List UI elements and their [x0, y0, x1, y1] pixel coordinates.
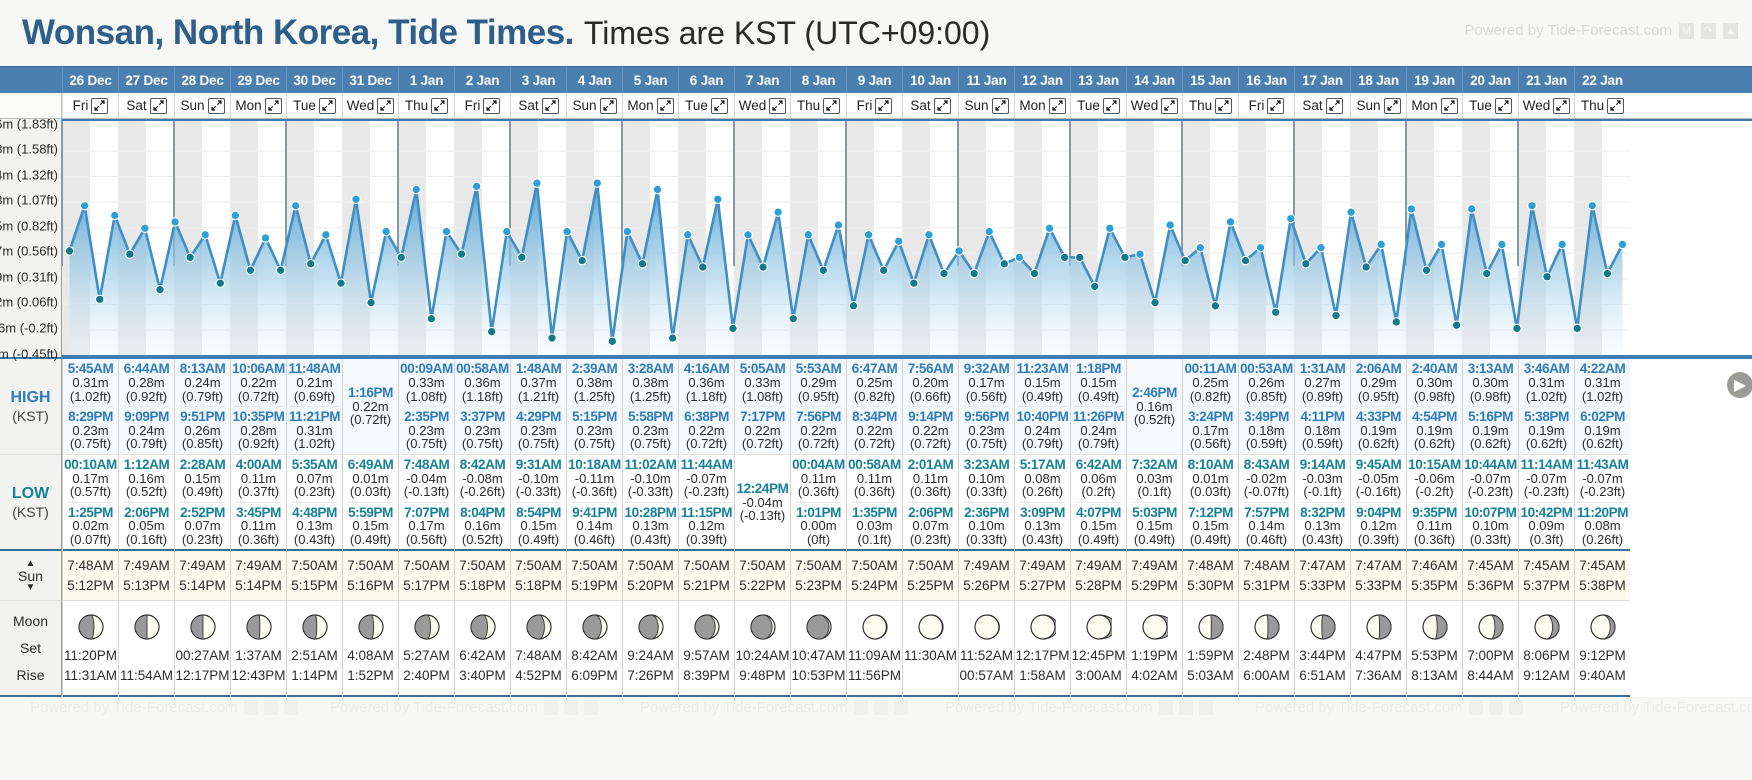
weekday-header-sun[interactable]: Sun — [174, 93, 230, 118]
low-tide-cell: 11:14AM -0.07m (-0.23ft)10:42PM 0.09m (0… — [1519, 455, 1574, 551]
moon-cell: 1:19PM 4:02AM — [1127, 601, 1182, 697]
expand-icon[interactable] — [1049, 98, 1066, 114]
low-tide-meters: 0.12m — [681, 519, 732, 532]
sunrise-time: 7:49AM — [179, 558, 226, 573]
low-tide-feet: (0.52ft) — [124, 485, 170, 498]
moon-phase-icon — [414, 614, 440, 643]
weekday-header-wed[interactable]: Wed — [1518, 93, 1574, 118]
weekday-header-tue[interactable]: Tue — [1070, 93, 1126, 118]
day-column: 6:47AM 0.25m (0.82ft)8:34PM 0.22m (0.72f… — [846, 359, 902, 697]
sunset-time: 5:36PM — [1467, 578, 1514, 593]
date-header-1-jan[interactable]: 1 Jan — [398, 67, 454, 93]
moon-phase-icon — [246, 614, 272, 643]
sunset-time: 5:37PM — [1523, 578, 1570, 593]
moonset-time: 11:09AM — [848, 648, 901, 663]
date-header-27-dec[interactable]: 27 Dec — [118, 67, 174, 93]
date-header-18-jan[interactable]: 18 Jan — [1350, 67, 1406, 93]
date-header-17-jan[interactable]: 17 Jan — [1294, 67, 1350, 93]
low-tide-time: 10:28PM — [625, 506, 677, 520]
weekday-label: Fri — [465, 98, 481, 113]
date-header-6-jan[interactable]: 6 Jan — [678, 67, 734, 93]
high-tide-feet: (0.62ft) — [1524, 437, 1569, 450]
sunset-time: 5:12PM — [67, 578, 114, 593]
moonrise-time: 9:48PM — [739, 668, 786, 683]
weekday-label: Sun — [964, 98, 988, 113]
low-tide-meters: -0.07m — [681, 472, 733, 485]
sunrise-time: 7:48AM — [1243, 558, 1290, 573]
expand-icon[interactable] — [1495, 98, 1512, 114]
low-tide-time: 00:04AM — [792, 458, 845, 472]
weekday-header-sun[interactable]: Sun — [1350, 93, 1406, 118]
logo-icon-2 — [1199, 700, 1213, 715]
moon-cell: 9:12PM 9:40AM — [1575, 601, 1630, 697]
high-tide-cell: 00:58AM 0.36m (1.18ft)3:37PM 0.23m (0.75… — [455, 359, 510, 455]
weekday-header-wed[interactable]: Wed — [1126, 93, 1182, 118]
low-tide-meters: 0.14m — [1244, 519, 1289, 532]
low-tide-time: 7:48AM — [404, 458, 450, 472]
expand-icon[interactable] — [769, 98, 786, 114]
high-tide-cell: 3:46AM 0.31m (1.02ft)5:38PM 0.19m (0.62f… — [1519, 359, 1574, 455]
date-header-14-jan[interactable]: 14 Jan — [1126, 67, 1182, 93]
expand-icon[interactable] — [600, 98, 617, 114]
moonset-time: 7:48AM — [515, 648, 562, 663]
sun-cell: 7:47AM 5:33PM — [1295, 551, 1350, 601]
weekday-header-thu[interactable]: Thu — [1182, 93, 1238, 118]
weekday-label: Tue — [1469, 98, 1492, 113]
sunset-time: 5:13PM — [123, 578, 170, 593]
moonset-time: 12:45PM — [1071, 648, 1125, 663]
low-tide-time: 8:54PM — [516, 506, 561, 520]
sunrise-time: 7:46AM — [1411, 558, 1458, 573]
moon-phase-icon — [302, 614, 328, 643]
chart-plot-area — [62, 119, 1752, 357]
weekday-header-fri[interactable]: Fri — [454, 93, 510, 118]
low-tide-meters: 0.02m — [68, 519, 113, 532]
date-header-5-jan[interactable]: 5 Jan — [622, 67, 678, 93]
high-tide-feet: (0.79ft) — [1073, 437, 1124, 450]
y-axis-tick: -0.14m (-0.45ft) — [0, 346, 58, 361]
low-tide-feet: (0.49ft) — [1132, 533, 1177, 546]
sunset-time: 5:14PM — [235, 578, 282, 593]
sunrise-time: 7:48AM — [1187, 558, 1234, 573]
moonset-time: 11:30AM — [904, 648, 957, 663]
high-tide-event: 5:53AM 0.29m (0.95ft) — [796, 361, 842, 404]
sun-cell: 7:50AM 5:22PM — [735, 551, 790, 601]
weekday-header-sat[interactable]: Sat — [1294, 93, 1350, 118]
weekday-header-mon[interactable]: Mon — [230, 93, 286, 118]
day-column: 8:13AM 0.24m (0.79ft)9:51PM 0.26m (0.85f… — [174, 359, 230, 697]
sunrise-time: 7:50AM — [515, 558, 562, 573]
moon-label-text: Moon — [13, 613, 48, 629]
high-tide-cell: 4:22AM 0.31m (1.02ft)6:02PM 0.19m (0.62f… — [1575, 359, 1630, 455]
expand-icon[interactable] — [823, 98, 840, 114]
high-tide-feet: (0.72ft) — [740, 437, 785, 450]
high-tide-cell: 00:09AM 0.33m (1.08ft)2:35PM 0.23m (0.75… — [399, 359, 454, 455]
powered-by-watermark: Powered by Tide-Forecast.com — [1560, 699, 1752, 716]
weekday-header-tue[interactable]: Tue — [678, 93, 734, 118]
high-tide-feet: (0.72ft) — [796, 437, 841, 450]
low-tide-time: 7:57PM — [1244, 506, 1289, 520]
high-tide-feet: (0.75ft) — [460, 437, 505, 450]
sun-cell: 7:50AM 5:17PM — [399, 551, 454, 601]
high-tide-time: 3:24PM — [1188, 410, 1233, 424]
high-tide-meters: 0.29m — [796, 376, 842, 389]
low-tide-event: 1:35PM 0.03m (0.1ft) — [852, 502, 897, 548]
date-header-9-jan[interactable]: 9 Jan — [846, 67, 902, 93]
date-header-29-dec[interactable]: 29 Dec — [230, 67, 286, 93]
day-column: 11:23AM 0.15m (0.49ft)10:40PM 0.24m (0.7… — [1014, 359, 1070, 697]
high-tide-meters: 0.28m — [124, 376, 170, 389]
moonrise-time: 10:53PM — [791, 668, 845, 683]
high-tide-meters: 0.30m — [1412, 376, 1458, 389]
weekday-header-sat[interactable]: Sat — [510, 93, 566, 118]
expand-icon[interactable] — [1441, 98, 1458, 114]
high-tide-event: 11:48AM 0.21m (0.69ft) — [289, 361, 341, 404]
weekday-header-fri[interactable]: Fri — [1238, 93, 1294, 118]
day-column: 11:48AM 0.21m (0.69ft)11:21PM 0.31m (1.0… — [286, 359, 342, 697]
refresh-icon — [874, 700, 888, 715]
high-tide-feet: (0.52ft) — [1132, 413, 1177, 426]
day-column: 2:39AM 0.38m (1.25ft)5:15PM 0.23m (0.75f… — [566, 359, 622, 697]
high-tide-meters: 0.22m — [232, 376, 285, 389]
weekday-label: Wed — [1523, 98, 1551, 113]
moon-cell: 3:44PM 6:51AM — [1295, 601, 1350, 697]
page-title: Wonsan, North Korea, Tide Times. — [22, 13, 574, 53]
sun-cell: 7:50AM 5:15PM — [287, 551, 342, 601]
y-axis-tick: 0.02m (0.06ft) — [0, 295, 58, 310]
low-tide-cell: 2:01AM 0.11m (0.36ft)2:06PM 0.07m (0.23f… — [903, 455, 958, 551]
high-tide-time: 5:53AM — [796, 362, 842, 376]
low-tide-event: 9:31AM -0.10m (-0.33ft) — [516, 457, 562, 500]
high-tide-feet: (0.92ft) — [233, 437, 285, 450]
date-header-4-jan[interactable]: 4 Jan — [566, 67, 622, 93]
high-tide-meters: 0.24m — [1017, 424, 1069, 437]
low-tide-event: 1:25PM 0.02m (0.07ft) — [68, 502, 113, 548]
powered-by-watermark: Powered by Tide-Forecast.com — [1255, 699, 1523, 716]
date-header-21-jan[interactable]: 21 Jan — [1518, 67, 1574, 93]
high-tide-time: 9:56PM — [964, 410, 1009, 424]
date-header-13-jan[interactable]: 13 Jan — [1070, 67, 1126, 93]
weekday-label: Sun — [180, 98, 204, 113]
sunset-time: 5:38PM — [1579, 578, 1626, 593]
moon-phase-icon — [638, 614, 664, 643]
low-tide-time: 10:18AM — [568, 458, 621, 472]
date-header-10-jan[interactable]: 10 Jan — [902, 67, 958, 93]
high-tide-feet: (1.08ft) — [740, 390, 786, 403]
low-tide-event: 5:03PM 0.15m (0.49ft) — [1132, 502, 1177, 548]
high-tide-meters: 0.27m — [1300, 376, 1346, 389]
sun-cell: 7:50AM 5:24PM — [847, 551, 902, 601]
weekday-header-fri[interactable]: Fri — [62, 93, 118, 118]
expand-icon[interactable] — [1553, 98, 1570, 114]
low-tide-time: 9:35PM — [1412, 506, 1457, 520]
scroll-right-handle[interactable]: ▶ — [1727, 372, 1752, 398]
weekday-header-thu[interactable]: Thu — [1574, 93, 1630, 118]
date-header-11-jan[interactable]: 11 Jan — [958, 67, 1014, 93]
high-tide-feet: (0.66ft) — [908, 390, 954, 403]
high-tide-event: 11:23AM 0.15m (0.49ft) — [1017, 361, 1069, 404]
moonrise-time: 5:03AM — [1187, 668, 1234, 683]
low-tide-event: 11:02AM -0.10m (-0.33ft) — [625, 457, 677, 500]
high-tide-meters: 0.24m — [1073, 424, 1124, 437]
low-tide-time: 1:35PM — [852, 506, 897, 520]
moon-phase-icon — [918, 614, 944, 643]
date-header-22-jan[interactable]: 22 Jan — [1574, 67, 1630, 93]
sunrise-time: 7:50AM — [795, 558, 842, 573]
weekday-header-mon[interactable]: Mon — [1014, 93, 1070, 118]
weekday-header-tue[interactable]: Tue — [1462, 93, 1518, 118]
low-tide-feet: (0.43ft) — [1020, 533, 1065, 546]
high-tide-meters: 0.23m — [460, 424, 505, 437]
weekday-header-wed[interactable]: Wed — [734, 93, 790, 118]
day-column: 1:48AM 0.37m (1.21ft)4:29PM 0.23m (0.75f… — [510, 359, 566, 697]
high-tide-cell: 1:48AM 0.37m (1.21ft)4:29PM 0.23m (0.75f… — [511, 359, 566, 455]
sun-cell: 7:49AM 5:14PM — [231, 551, 286, 601]
low-tide-event: 7:48AM -0.04m (-0.13ft) — [404, 457, 450, 500]
expand-icon[interactable] — [657, 98, 674, 114]
high-tide-event: 2:46PM 0.16m (0.52ft) — [1132, 385, 1177, 428]
date-header-19-jan[interactable]: 19 Jan — [1406, 67, 1462, 93]
weekday-header-thu[interactable]: Thu — [398, 93, 454, 118]
day-column: 2:06AM 0.29m (0.95ft)4:33PM 0.19m (0.62f… — [1350, 359, 1406, 697]
weekday-header-sun[interactable]: Sun — [566, 93, 622, 118]
date-header-20-jan[interactable]: 20 Jan — [1462, 67, 1518, 93]
high-tide-feet: (0.95ft) — [796, 390, 842, 403]
expand-icon[interactable] — [934, 98, 951, 114]
low-tide-cell: 10:44AM -0.07m (-0.23ft)10:07PM 0.10m (0… — [1463, 455, 1518, 551]
weekday-header-wed[interactable]: Wed — [342, 93, 398, 118]
low-tide-event: 11:15PM 0.12m (0.39ft) — [681, 502, 732, 548]
moon-cell: 11:54AM — [119, 601, 174, 697]
high-tide-feet: (0.79ft) — [124, 437, 169, 450]
expand-icon[interactable] — [711, 98, 728, 114]
expand-icon[interactable] — [91, 98, 108, 114]
high-tide-cell: 10:06AM 0.22m (0.72ft)10:35PM 0.28m (0.9… — [231, 359, 286, 455]
high-tide-meters: 0.29m — [1356, 376, 1402, 389]
expand-icon[interactable] — [1267, 98, 1284, 114]
expand-icon[interactable] — [1607, 98, 1624, 114]
high-tide-event: 00:53AM 0.26m (0.85ft) — [1240, 361, 1293, 404]
expand-icon[interactable] — [377, 98, 394, 114]
expand-icon[interactable] — [483, 98, 500, 114]
low-tide-feet: (0.49ft) — [348, 533, 393, 546]
low-tide-feet: (0.16ft) — [124, 533, 169, 546]
weekday-header-fri[interactable]: Fri — [846, 93, 902, 118]
low-tide-event: 2:52PM 0.07m (0.23ft) — [180, 502, 225, 548]
low-tide-feet: (0.37ft) — [236, 485, 282, 498]
expand-icon[interactable] — [1326, 98, 1343, 114]
weekday-header-thu[interactable]: Thu — [790, 93, 846, 118]
low-tide-time: 9:41PM — [572, 506, 617, 520]
low-tide-feet: (0.39ft) — [1356, 533, 1401, 546]
logo-icon-2 — [894, 700, 908, 715]
high-tide-feet: (0.72ft) — [348, 413, 393, 426]
tide-chart: 0.56m (1.83ft)0.48m (1.58ft)0.4m (1.32ft… — [0, 119, 1752, 357]
moon-cell: 11:30AM — [903, 601, 958, 697]
low-tide-time: 1:01PM — [796, 506, 841, 520]
high-tide-cell: 1:31AM 0.27m (0.89ft)4:11PM 0.18m (0.59f… — [1295, 359, 1350, 455]
sun-cell: 7:50AM 5:18PM — [511, 551, 566, 601]
date-header-3-jan[interactable]: 3 Jan — [510, 67, 566, 93]
expand-icon[interactable] — [1161, 98, 1178, 114]
high-tide-event: 6:44AM 0.28m (0.92ft) — [124, 361, 170, 404]
high-tide-cell: 2:39AM 0.38m (1.25ft)5:15PM 0.23m (0.75f… — [567, 359, 622, 455]
low-tide-cell: 00:58AM 0.11m (0.36ft)1:35PM 0.03m (0.1f… — [847, 455, 902, 551]
high-tide-feet: (0.75ft) — [68, 437, 113, 450]
weekday-header-row: FriSatSunMonTueWedThuFriSatSunMonTueWedT… — [0, 93, 1752, 119]
sunset-time: 5:17PM — [403, 578, 450, 593]
high-tide-event: 6:47AM 0.25m (0.82ft) — [852, 361, 898, 404]
expand-icon[interactable] — [265, 98, 282, 114]
expand-icon[interactable] — [992, 98, 1009, 114]
sunset-time: 5:28PM — [1075, 578, 1122, 593]
high-tide-meters: 0.16m — [1132, 400, 1177, 413]
high-tide-event: 4:29PM 0.23m (0.75ft) — [516, 406, 561, 452]
date-header-12-jan[interactable]: 12 Jan — [1014, 67, 1070, 93]
low-tide-meters: 0.13m — [625, 519, 677, 532]
date-header-26-dec[interactable]: 26 Dec — [62, 67, 118, 93]
weekday-header-mon[interactable]: Mon — [622, 93, 678, 118]
low-tide-event: 8:32PM 0.13m (0.43ft) — [1300, 502, 1345, 548]
high-tide-feet: (0.72ft) — [684, 437, 729, 450]
low-tide-meters: -0.08m — [460, 472, 506, 485]
high-tide-event: 4:11PM 0.18m (0.59ft) — [1300, 406, 1344, 452]
moonrise-time: 11:54AM — [120, 668, 173, 683]
high-tide-time: 2:06AM — [1356, 362, 1402, 376]
expand-icon[interactable] — [431, 98, 448, 114]
weekday-header-sat[interactable]: Sat — [118, 93, 174, 118]
sunset-time: 5:25PM — [907, 578, 954, 593]
high-tide-feet: (0.82ft) — [1185, 390, 1237, 403]
moon-phase-icon — [1590, 614, 1616, 643]
high-tide-event: 00:58AM 0.36m (1.18ft) — [456, 361, 509, 404]
moonset-time: 8:06PM — [1523, 648, 1570, 663]
low-tide-meters: 0.06m — [1076, 472, 1122, 485]
low-tide-time: 6:42AM — [1076, 458, 1122, 472]
expand-icon[interactable] — [875, 98, 892, 114]
low-tide-meters: -0.10m — [516, 472, 562, 485]
high-tide-event: 3:13AM 0.30m (0.98ft) — [1468, 361, 1514, 404]
moon-cell: 9:57AM 8:39PM — [679, 601, 734, 697]
day-column: 1:16PM 0.22m (0.72ft)6:49AM 0.01m (0.03f… — [342, 359, 398, 697]
powered-by-watermark: Powered by Tide-Forecast.com — [30, 699, 298, 716]
sunrise-time: 7:50AM — [571, 558, 618, 573]
sunset-time: 5:18PM — [515, 578, 562, 593]
moon-cell: 2:48PM 6:00AM — [1239, 601, 1294, 697]
weekday-label: Sat — [910, 98, 930, 113]
moonrise-time: 7:36AM — [1355, 668, 1402, 683]
high-tide-event: 8:29PM 0.23m (0.75ft) — [68, 406, 113, 452]
high-tide-event: 9:32AM 0.17m (0.56ft) — [964, 361, 1010, 404]
sunset-time: 5:33PM — [1355, 578, 1402, 593]
date-header-28-dec[interactable]: 28 Dec — [174, 67, 230, 93]
expand-icon[interactable] — [542, 98, 559, 114]
high-tide-time: 10:40PM — [1017, 410, 1069, 424]
moon-phase-icon — [1478, 614, 1504, 643]
expand-icon[interactable] — [150, 98, 167, 114]
low-tide-event: 6:49AM 0.01m (0.03ft) — [348, 457, 394, 500]
sun-cell: 7:50AM 5:19PM — [567, 551, 622, 601]
high-tide-meters: 0.38m — [628, 376, 674, 389]
weekday-label: Thu — [1189, 98, 1212, 113]
y-axis-tick: 0.56m (1.83ft) — [0, 116, 58, 131]
high-tide-meters: 0.23m — [68, 424, 113, 437]
low-tide-meters: -0.07m — [1577, 472, 1629, 485]
high-tide-event: 4:33PM 0.19m (0.62ft) — [1356, 406, 1401, 452]
high-tide-feet: (0.62ft) — [1356, 437, 1401, 450]
low-tide-cell: 6:49AM 0.01m (0.03ft)5:59PM 0.15m (0.49f… — [343, 455, 398, 551]
low-tide-time: 11:14AM — [1521, 458, 1573, 472]
moonset-label-text: Set — [20, 640, 41, 656]
weekday-header-tue[interactable]: Tue — [286, 93, 342, 118]
expand-icon[interactable] — [319, 98, 336, 114]
date-header-31-dec[interactable]: 31 Dec — [342, 67, 398, 93]
high-tide-meters: 0.22m — [740, 424, 785, 437]
moonset-time: 00:27AM — [175, 648, 229, 663]
expand-icon[interactable] — [1103, 98, 1120, 114]
expand-icon[interactable] — [1215, 98, 1232, 114]
low-tide-feet: (0.49ft) — [516, 533, 561, 546]
low-tide-meters: 0.11m — [236, 519, 281, 532]
moonset-time: 5:53PM — [1411, 648, 1458, 663]
weekday-header-mon[interactable]: Mon — [1406, 93, 1462, 118]
sun-cell: 7:50AM 5:23PM — [791, 551, 846, 601]
high-tide-meters: 0.22m — [796, 424, 841, 437]
low-tide-cell: 8:43AM -0.02m (-0.07ft)7:57PM 0.14m (0.4… — [1239, 455, 1294, 551]
moonset-time: 9:57AM — [683, 648, 730, 663]
day-column: 6:44AM 0.28m (0.92ft)9:09PM 0.24m (0.79f… — [118, 359, 174, 697]
sun-cell: 7:45AM 5:36PM — [1463, 551, 1518, 601]
tide-data-table: HIGH (KST) LOW (KST) ▲ Sun ▼ Moon Set Ri… — [0, 357, 1752, 697]
date-header-2-jan[interactable]: 2 Jan — [454, 67, 510, 93]
sunset-time: 5:29PM — [1131, 578, 1178, 593]
date-header-30-dec[interactable]: 30 Dec — [286, 67, 342, 93]
date-header-8-jan[interactable]: 8 Jan — [790, 67, 846, 93]
expand-icon[interactable] — [1384, 98, 1401, 114]
low-tide-feet: (0.43ft) — [625, 533, 677, 546]
high-tide-event: 1:48AM 0.37m (1.21ft) — [516, 361, 562, 404]
low-tide-event: 8:54PM 0.15m (0.49ft) — [516, 502, 561, 548]
date-header-15-jan[interactable]: 15 Jan — [1182, 67, 1238, 93]
sunset-time: 5:31PM — [1243, 578, 1290, 593]
high-tide-cell: 00:53AM 0.26m (0.85ft)3:49PM 0.18m (0.59… — [1239, 359, 1294, 455]
low-tide-feet: (-0.16ft) — [1356, 485, 1402, 498]
low-tide-meters: 0.15m — [348, 519, 393, 532]
date-header-16-jan[interactable]: 16 Jan — [1238, 67, 1294, 93]
low-tide-event: 1:12AM 0.16m (0.52ft) — [124, 457, 170, 500]
weekday-header-sun[interactable]: Sun — [958, 93, 1014, 118]
high-tide-meters: 0.19m — [1412, 424, 1457, 437]
sun-cell: 7:49AM 5:14PM — [175, 551, 230, 601]
high-tide-event: 1:18PM 0.15m (0.49ft) — [1076, 361, 1121, 404]
low-tide-time: 4:07PM — [1076, 506, 1121, 520]
low-tide-meters: -0.07m — [1464, 472, 1517, 485]
expand-icon[interactable] — [208, 98, 225, 114]
day-column: 1:31AM 0.27m (0.89ft)4:11PM 0.18m (0.59f… — [1294, 359, 1350, 697]
low-tide-feet: (0.36ft) — [236, 533, 281, 546]
weekday-header-sat[interactable]: Sat — [902, 93, 958, 118]
sunrise-time: 7:50AM — [291, 558, 338, 573]
low-tide-cell: 10:15AM -0.06m (-0.2ft)9:35PM 0.11m (0.3… — [1407, 455, 1462, 551]
weekday-label: Fri — [857, 98, 873, 113]
day-column: 2:40AM 0.30m (0.98ft)4:54PM 0.19m (0.62f… — [1406, 359, 1462, 697]
date-header-7-jan[interactable]: 7 Jan — [734, 67, 790, 93]
powered-by-watermark: Powered by Tide-Forecast.com — [330, 699, 598, 716]
sunrise-time: 7:50AM — [347, 558, 394, 573]
powered-by-watermark-top: Powered by Tide-Forecast.com M ↷ ▲ — [1464, 22, 1738, 39]
day-columns: 5:45AM 0.31m (1.02ft)8:29PM 0.23m (0.75f… — [62, 359, 1752, 697]
low-tide-cell: 5:35AM 0.07m (0.23ft)4:48PM 0.13m (0.43f… — [287, 455, 342, 551]
